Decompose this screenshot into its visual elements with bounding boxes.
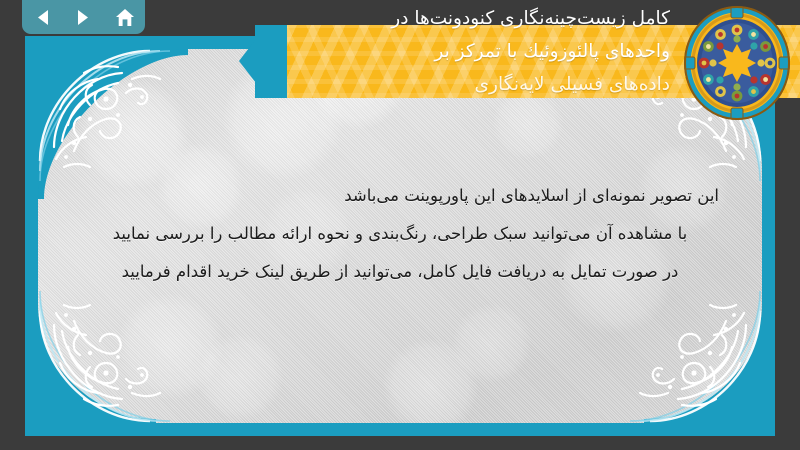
slide-canvas: این تصویر نمونه‌ای از اسلایدهای این پاور… <box>38 49 762 423</box>
bokeh-light <box>683 334 762 423</box>
home-button[interactable] <box>111 4 139 30</box>
bokeh-light <box>453 304 531 382</box>
viewer-nav-bar <box>22 0 145 34</box>
bokeh-light <box>118 294 223 399</box>
triangle-right-icon <box>76 9 91 26</box>
bokeh-light <box>78 79 188 189</box>
body-line-1: این تصویر نمونه‌ای از اسلایدهای این پاور… <box>73 177 727 215</box>
back-button[interactable] <box>29 4 57 30</box>
bokeh-light <box>383 339 478 423</box>
banner-teal-tab <box>255 25 287 98</box>
forward-button[interactable] <box>70 4 98 30</box>
bokeh-light <box>493 89 563 159</box>
arabesque-corner-ornament <box>612 273 762 423</box>
triangle-left-icon <box>35 9 50 26</box>
slide-viewer: این تصویر نمونه‌ای از اسلایدهای این پاور… <box>0 0 800 450</box>
persian-medallion-ornament <box>682 4 792 122</box>
body-line-2: با مشاهده آن می‌توانید سبک طراحی، رنگ‌بن… <box>73 215 727 253</box>
body-line-3: در صورت تمایل به دریافت فایل کامل، می‌تو… <box>73 253 727 291</box>
banner-arrow-shape <box>239 39 256 83</box>
arabesque-corner-ornament <box>38 273 188 423</box>
house-icon <box>115 8 135 27</box>
slide-body-text: این تصویر نمونه‌ای از اسلایدهای این پاور… <box>38 177 762 291</box>
bokeh-light <box>198 334 283 419</box>
